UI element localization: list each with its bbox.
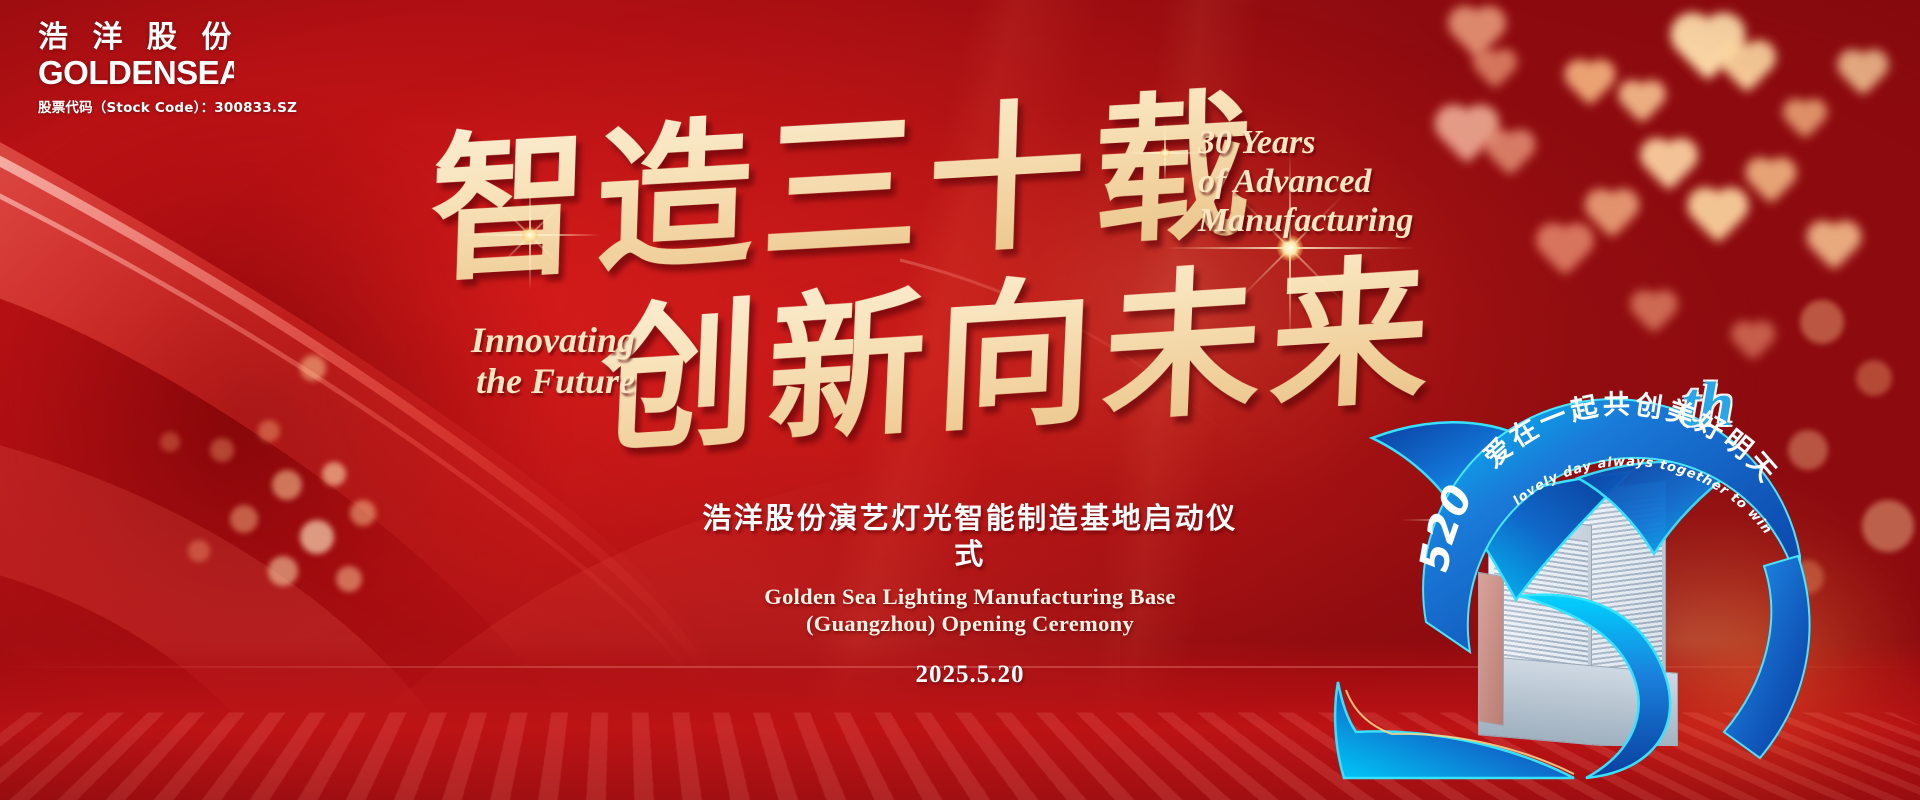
subtitle-en-line-2: (Guangzhou) Opening Ceremony bbox=[690, 610, 1250, 637]
subtitle-block: 浩洋股份演艺灯光智能制造基地启动仪式 Golden Sea Lighting M… bbox=[690, 500, 1250, 689]
brand-logo: 浩 洋 股 份 GOLDENSEA 股票代码（Stock Code）：30083… bbox=[38, 22, 338, 116]
subtitle-cn: 浩洋股份演艺灯光智能制造基地启动仪式 bbox=[690, 500, 1250, 573]
ordinal-th-mark: th bbox=[1682, 374, 1734, 436]
tagline-left: Innovating the Future bbox=[455, 320, 635, 402]
brand-name-en: GOLDENSEA bbox=[38, 56, 234, 89]
brand-name-cn: 浩 洋 股 份 bbox=[38, 22, 338, 54]
blue-30-ribbon-graphic bbox=[1330, 360, 1890, 780]
subtitle-en: Golden Sea Lighting Manufacturing Base (… bbox=[690, 583, 1250, 638]
stock-code: 股票代码（Stock Code）：300833.SZ bbox=[38, 96, 338, 116]
tagline-right: 30 Years of Advanced Manufacturing bbox=[1198, 124, 1488, 240]
subtitle-en-line-1: Golden Sea Lighting Manufacturing Base bbox=[690, 583, 1250, 610]
event-date: 2025.5.20 bbox=[690, 661, 1250, 689]
anniversary-banner: 浩 洋 股 份 GOLDENSEA 股票代码（Stock Code）：30083… bbox=[0, 0, 1920, 800]
anniversary-emblem: 浩洋股份 GOLDENSEA 520 爱在一起共创美好明天 lovely day… bbox=[1330, 360, 1890, 780]
